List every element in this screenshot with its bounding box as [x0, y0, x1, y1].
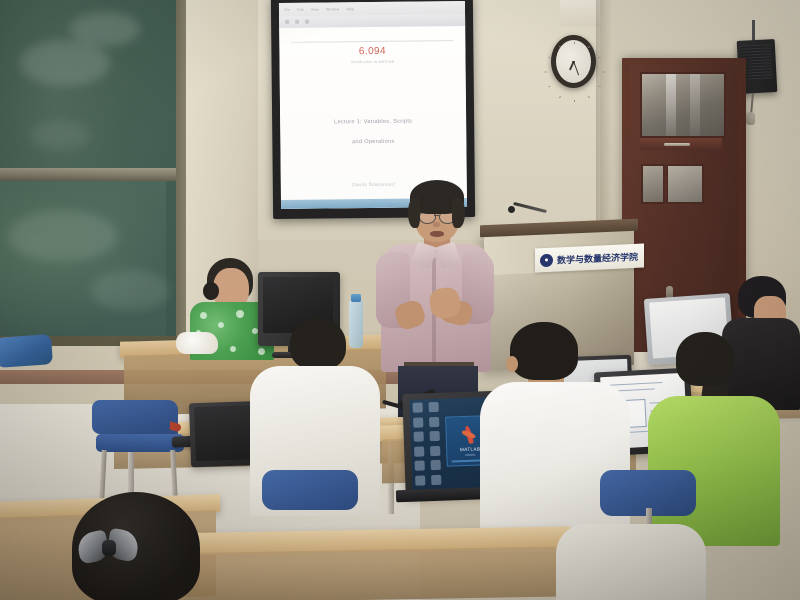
chalk-smear [70, 12, 140, 46]
student-desk-front-center-apron [150, 546, 570, 600]
door-glass-pane-right [666, 164, 704, 204]
menu-item-view: View [311, 7, 319, 11]
bow-knot [102, 540, 116, 556]
clock-tick [574, 100, 575, 102]
desktop-icon[interactable] [431, 474, 441, 484]
nose [433, 222, 440, 227]
projected-image: File Edit View Window Help 6.094 Introdu… [279, 1, 467, 209]
classroom-photo: File Edit View Window Help 6.094 Introdu… [0, 0, 800, 600]
glass-reflection [690, 74, 700, 136]
menu-item-help: Help [346, 7, 354, 11]
microphone-head-icon [508, 206, 515, 213]
desktop-icon[interactable] [414, 446, 424, 456]
menu-item-file: File [284, 7, 290, 11]
desktop-icon[interactable] [413, 417, 423, 427]
water-bottle [349, 300, 363, 348]
desktop-icon[interactable] [430, 460, 440, 470]
chalk-smear [8, 210, 118, 262]
floral-pattern [200, 312, 207, 319]
chair-backrest[interactable] [92, 400, 170, 434]
clock-face [556, 40, 591, 83]
door-glass-pane-left [641, 164, 665, 204]
mouth [430, 231, 444, 237]
door-push-bar[interactable] [664, 143, 690, 146]
glass-reflection [666, 74, 676, 136]
bottle-cap [351, 294, 361, 302]
slide-subtitle: Introduction to MATLAB [280, 59, 466, 65]
person-student-foreground-right [556, 524, 706, 600]
matlab-version-text: R2016a [465, 452, 475, 456]
chalk-smear [20, 40, 110, 86]
slide-divider [291, 40, 453, 43]
desktop-icon[interactable] [415, 475, 425, 485]
chalk-smear [90, 270, 170, 310]
desktop-icon[interactable] [430, 445, 440, 455]
hanging-plug [746, 112, 755, 125]
clock-tick [574, 42, 575, 44]
backpack [0, 334, 53, 368]
hair [290, 318, 346, 370]
hair-bun [203, 282, 219, 300]
floral-pattern [258, 348, 265, 355]
desktop-icon[interactable] [429, 431, 439, 441]
toolbar-icon [305, 20, 309, 24]
hair [510, 322, 578, 380]
slide-title-line2: and Operations [280, 138, 466, 146]
floral-pattern [230, 346, 236, 352]
desktop-icon[interactable] [414, 431, 424, 441]
desktop-icon[interactable] [413, 402, 423, 412]
desktop-icon[interactable] [415, 460, 425, 470]
slide-title-line1: Lecture 1: Variables, Scripts [280, 118, 466, 126]
clock-tick [588, 46, 590, 48]
podium-sign-text: 数学与数量经济学院 [557, 249, 638, 266]
tissue-pack [176, 332, 218, 354]
instructor-hair-right [452, 198, 465, 228]
clock-minute-hand [573, 62, 579, 76]
menu-item-edit: Edit [297, 7, 304, 11]
desktop-icon-grid [413, 402, 444, 487]
clock-tick [544, 72, 546, 73]
chair-backrest[interactable] [262, 470, 358, 510]
instructor-hair-left [408, 198, 420, 228]
floral-pattern [236, 310, 244, 318]
clock-tick [602, 72, 604, 73]
door-glass-pane-top [640, 72, 726, 138]
toolbar-icon [285, 20, 289, 24]
hair [676, 332, 734, 386]
desktop-icon[interactable] [428, 402, 438, 412]
matlab-membrane-logo [459, 425, 480, 446]
matlab-brand-text: MATLAB [460, 446, 481, 452]
chalk-smear [30, 120, 90, 150]
clock-tick [559, 46, 561, 48]
clock-center-pin [572, 61, 574, 63]
chalk-rail [0, 168, 176, 181]
ear [506, 356, 518, 372]
podium-nameplate: ● 数学与数量经济学院 [535, 244, 644, 273]
floral-pattern [218, 322, 224, 328]
document-text-line [609, 382, 663, 386]
menu-item-window: Window [326, 7, 339, 11]
slide-course-number: 6.094 [279, 45, 465, 58]
hair-bow [78, 528, 140, 566]
eyeglasses-bridge [434, 215, 439, 216]
desktop-icon[interactable] [429, 416, 439, 426]
toolbar-icon [295, 20, 299, 24]
university-crest-icon: ● [540, 253, 553, 267]
analog-wall-clock [551, 35, 596, 88]
